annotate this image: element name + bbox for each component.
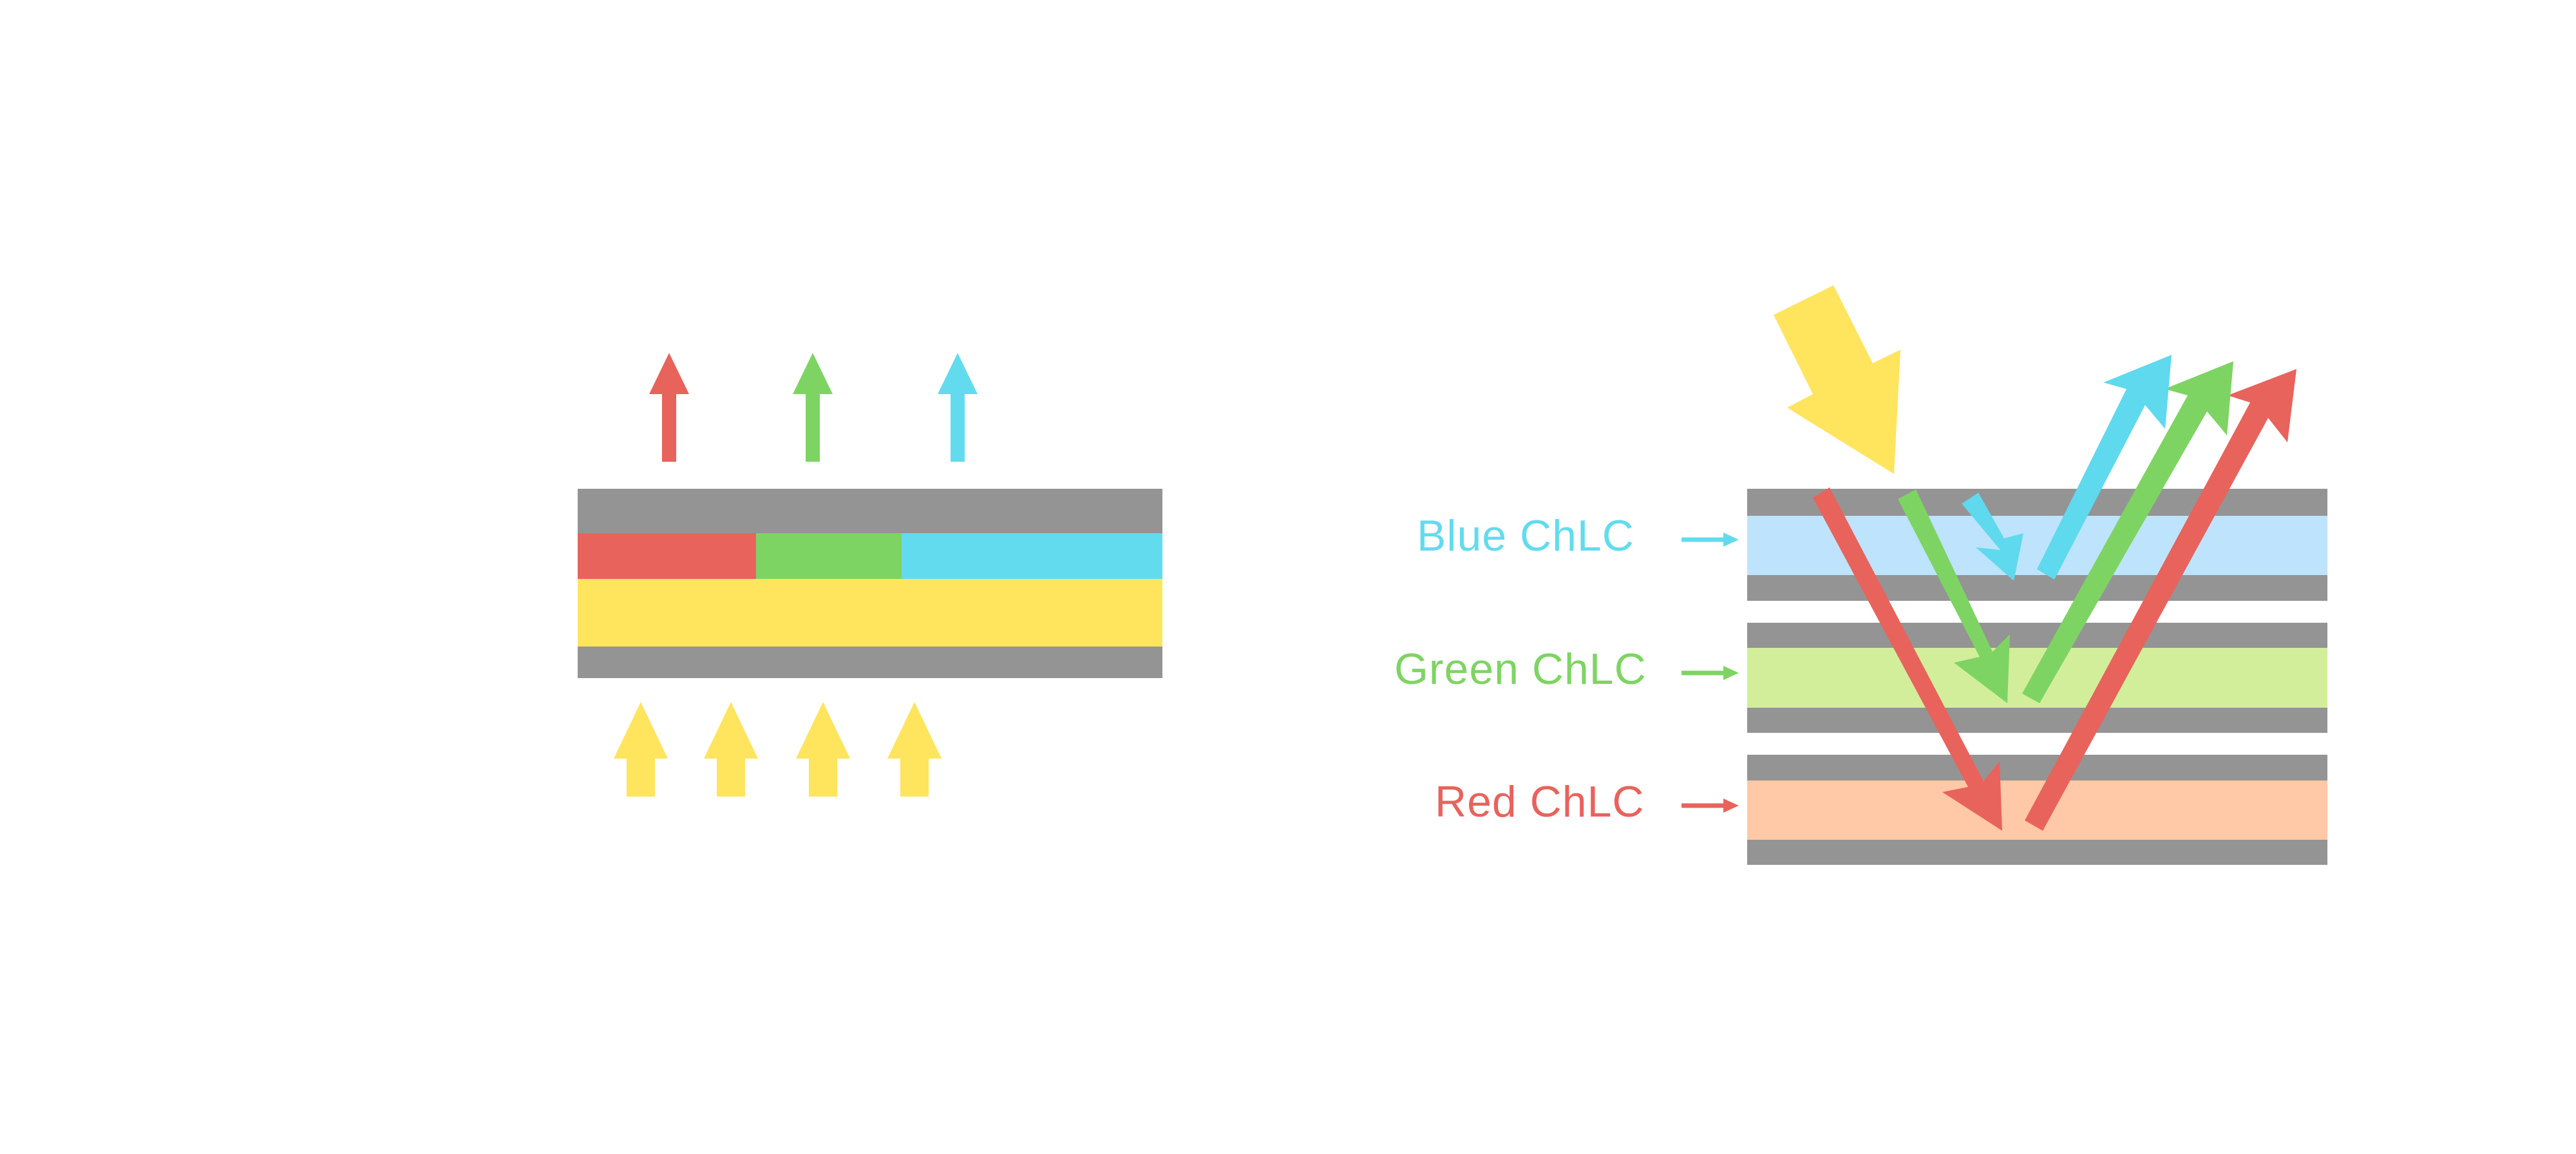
blue-chlc-label: Blue ChLC [1417,511,1634,560]
blue-bottom-electrode [1747,575,2327,601]
blue-chlc-label-group: Blue ChLC [1417,511,1739,560]
green-segment [756,533,902,579]
right-panel-reflective-stack: Blue ChLC Green ChLC Red ChLC [1394,285,2327,865]
backlight-layer [578,579,1162,647]
red-emitted-arrow [649,353,689,462]
left-layer-stack [578,489,1162,678]
ambient-light-arrow [1774,285,1900,474]
backlight-arrow-group [614,702,942,797]
blue-segment [902,533,1162,579]
red-bottom-electrode [1747,840,2327,865]
emitted-arrow-group [649,353,978,462]
top-electrode [578,489,1162,533]
green-chlc-label-arrow-icon [1681,666,1739,680]
left-panel-transmissive-stack [578,353,1162,797]
chlc-diagram-svg: Blue ChLC Green ChLC Red ChLC [0,0,2576,1154]
blue-emitted-arrow [938,353,978,462]
backlight-arrow [614,702,668,797]
green-bottom-electrode [1747,708,2327,733]
red-chlc-label: Red ChLC [1435,777,1645,826]
green-chlc-label: Green ChLC [1394,645,1647,694]
red-top-electrode [1747,755,2327,780]
red-chlc-label-arrow-icon [1681,799,1739,813]
backlight-arrow [704,702,758,797]
green-emitted-arrow [793,353,833,462]
blue-chlc-label-arrow-icon [1681,533,1739,547]
backlight-arrow [796,702,850,797]
red-segment [578,533,756,579]
bottom-electrode [578,647,1162,678]
backlight-arrow [887,702,942,797]
figure-canvas: Blue ChLC Green ChLC Red ChLC [0,0,2576,1154]
green-top-electrode [1747,623,2327,648]
green-chlc-label-group: Green ChLC [1394,645,1739,694]
red-chlc-label-group: Red ChLC [1435,777,1739,826]
